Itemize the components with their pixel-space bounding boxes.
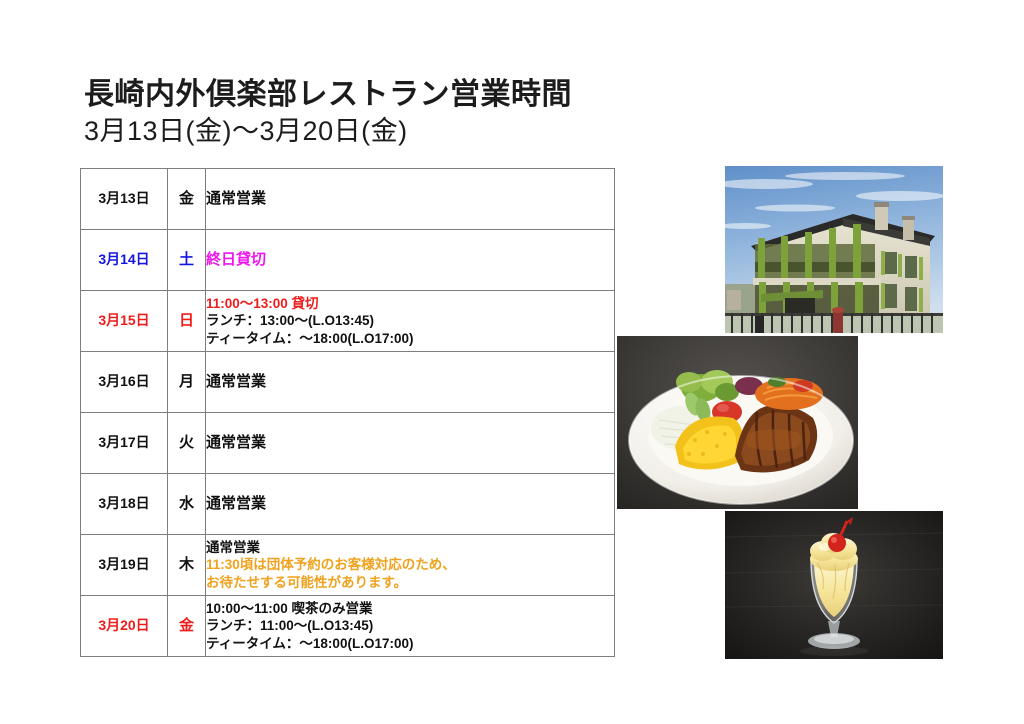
- cell-weekday: 金: [168, 169, 206, 230]
- date-label: 3月16日: [98, 373, 149, 389]
- cell-weekday: 火: [168, 413, 206, 474]
- hours-line: 通常営業: [206, 433, 614, 452]
- table-row: 3月19日木通常営業11:30頃は団体予約のお客様対応のため、お待たせする可能性…: [81, 535, 615, 596]
- hours-line: 通常営業: [206, 372, 614, 391]
- table-row: 3月17日火通常営業: [81, 413, 615, 474]
- table-row: 3月14日土終日貸切: [81, 230, 615, 291]
- table-row: 3月13日金通常営業: [81, 169, 615, 230]
- table-row: 3月15日日11:00〜13:00 貸切ランチ：13:00〜(L.O13:45)…: [81, 291, 615, 352]
- schedule-table: 3月13日金通常営業3月14日土終日貸切3月15日日11:00〜13:00 貸切…: [80, 168, 615, 657]
- weekday-label: 火: [179, 434, 194, 451]
- flyer-page: 長崎内外倶楽部レストラン営業時間 3月13日(金)〜3月20日(金) 3月13日…: [0, 0, 1024, 724]
- building-illustration: [725, 166, 943, 333]
- hours-line: 通常営業: [206, 539, 614, 556]
- cell-hours: 終日貸切: [206, 230, 615, 291]
- cell-hours: 通常営業: [206, 413, 615, 474]
- cell-weekday: 水: [168, 474, 206, 535]
- cell-date: 3月17日: [81, 413, 168, 474]
- cell-hours: 10:00〜11:00 喫茶のみ営業ランチ：11:00〜(L.O13:45)ティ…: [206, 596, 615, 657]
- cell-hours: 通常営業: [206, 169, 615, 230]
- schedule-table-body: 3月13日金通常営業3月14日土終日貸切3月15日日11:00〜13:00 貸切…: [81, 169, 615, 657]
- hours-line: ランチ：11:00〜(L.O13:45): [206, 617, 614, 634]
- weekday-label: 土: [179, 251, 194, 268]
- hours-line: お待たせする可能性があります。: [206, 574, 614, 591]
- date-label: 3月18日: [98, 495, 149, 511]
- date-label: 3月14日: [98, 251, 149, 267]
- dessert-illustration: [725, 511, 943, 659]
- cell-weekday: 月: [168, 352, 206, 413]
- cell-hours: 通常営業: [206, 474, 615, 535]
- table-row: 3月16日月通常営業: [81, 352, 615, 413]
- hours-line: 終日貸切: [206, 250, 614, 269]
- cell-hours: 通常営業11:30頃は団体予約のお客様対応のため、お待たせする可能性があります。: [206, 535, 615, 596]
- cell-date: 3月14日: [81, 230, 168, 291]
- food-illustration: [617, 336, 858, 509]
- cell-weekday: 土: [168, 230, 206, 291]
- weekday-label: 月: [179, 373, 194, 390]
- page-subtitle-date-range: 3月13日(金)〜3月20日(金): [84, 115, 724, 149]
- cell-hours: 通常営業: [206, 352, 615, 413]
- heading-block: 長崎内外倶楽部レストラン営業時間 3月13日(金)〜3月20日(金): [84, 78, 724, 149]
- photo-food: [617, 336, 858, 509]
- cell-date: 3月13日: [81, 169, 168, 230]
- cell-weekday: 金: [168, 596, 206, 657]
- date-label: 3月20日: [98, 617, 149, 633]
- page-title: 長崎内外倶楽部レストラン営業時間: [84, 78, 724, 113]
- weekday-label: 水: [179, 495, 194, 512]
- date-label: 3月13日: [98, 190, 149, 206]
- hours-line: ランチ：13:00〜(L.O13:45): [206, 312, 614, 329]
- date-label: 3月19日: [98, 556, 149, 572]
- cell-hours: 11:00〜13:00 貸切ランチ：13:00〜(L.O13:45)ティータイム…: [206, 291, 615, 352]
- photo-dessert: [725, 511, 943, 659]
- weekday-label: 金: [179, 190, 194, 207]
- hours-line: 10:00〜11:00 喫茶のみ営業: [206, 600, 614, 617]
- table-row: 3月20日金10:00〜11:00 喫茶のみ営業ランチ：11:00〜(L.O13…: [81, 596, 615, 657]
- hours-line: ティータイム：〜18:00(L.O17:00): [206, 635, 614, 652]
- cell-date: 3月18日: [81, 474, 168, 535]
- date-label: 3月15日: [98, 312, 149, 328]
- hours-line: 通常営業: [206, 494, 614, 513]
- hours-line: 11:00〜13:00 貸切: [206, 295, 614, 312]
- cell-weekday: 木: [168, 535, 206, 596]
- weekday-label: 木: [179, 556, 194, 573]
- weekday-label: 金: [179, 617, 194, 634]
- table-row: 3月18日水通常営業: [81, 474, 615, 535]
- cell-weekday: 日: [168, 291, 206, 352]
- hours-line: ティータイム：〜18:00(L.O17:00): [206, 330, 614, 347]
- cell-date: 3月19日: [81, 535, 168, 596]
- photo-building: [725, 166, 943, 333]
- cell-date: 3月15日: [81, 291, 168, 352]
- hours-line: 11:30頃は団体予約のお客様対応のため、: [206, 556, 614, 573]
- date-label: 3月17日: [98, 434, 149, 450]
- cell-date: 3月20日: [81, 596, 168, 657]
- cell-date: 3月16日: [81, 352, 168, 413]
- hours-line: 通常営業: [206, 189, 614, 208]
- weekday-label: 日: [179, 312, 194, 329]
